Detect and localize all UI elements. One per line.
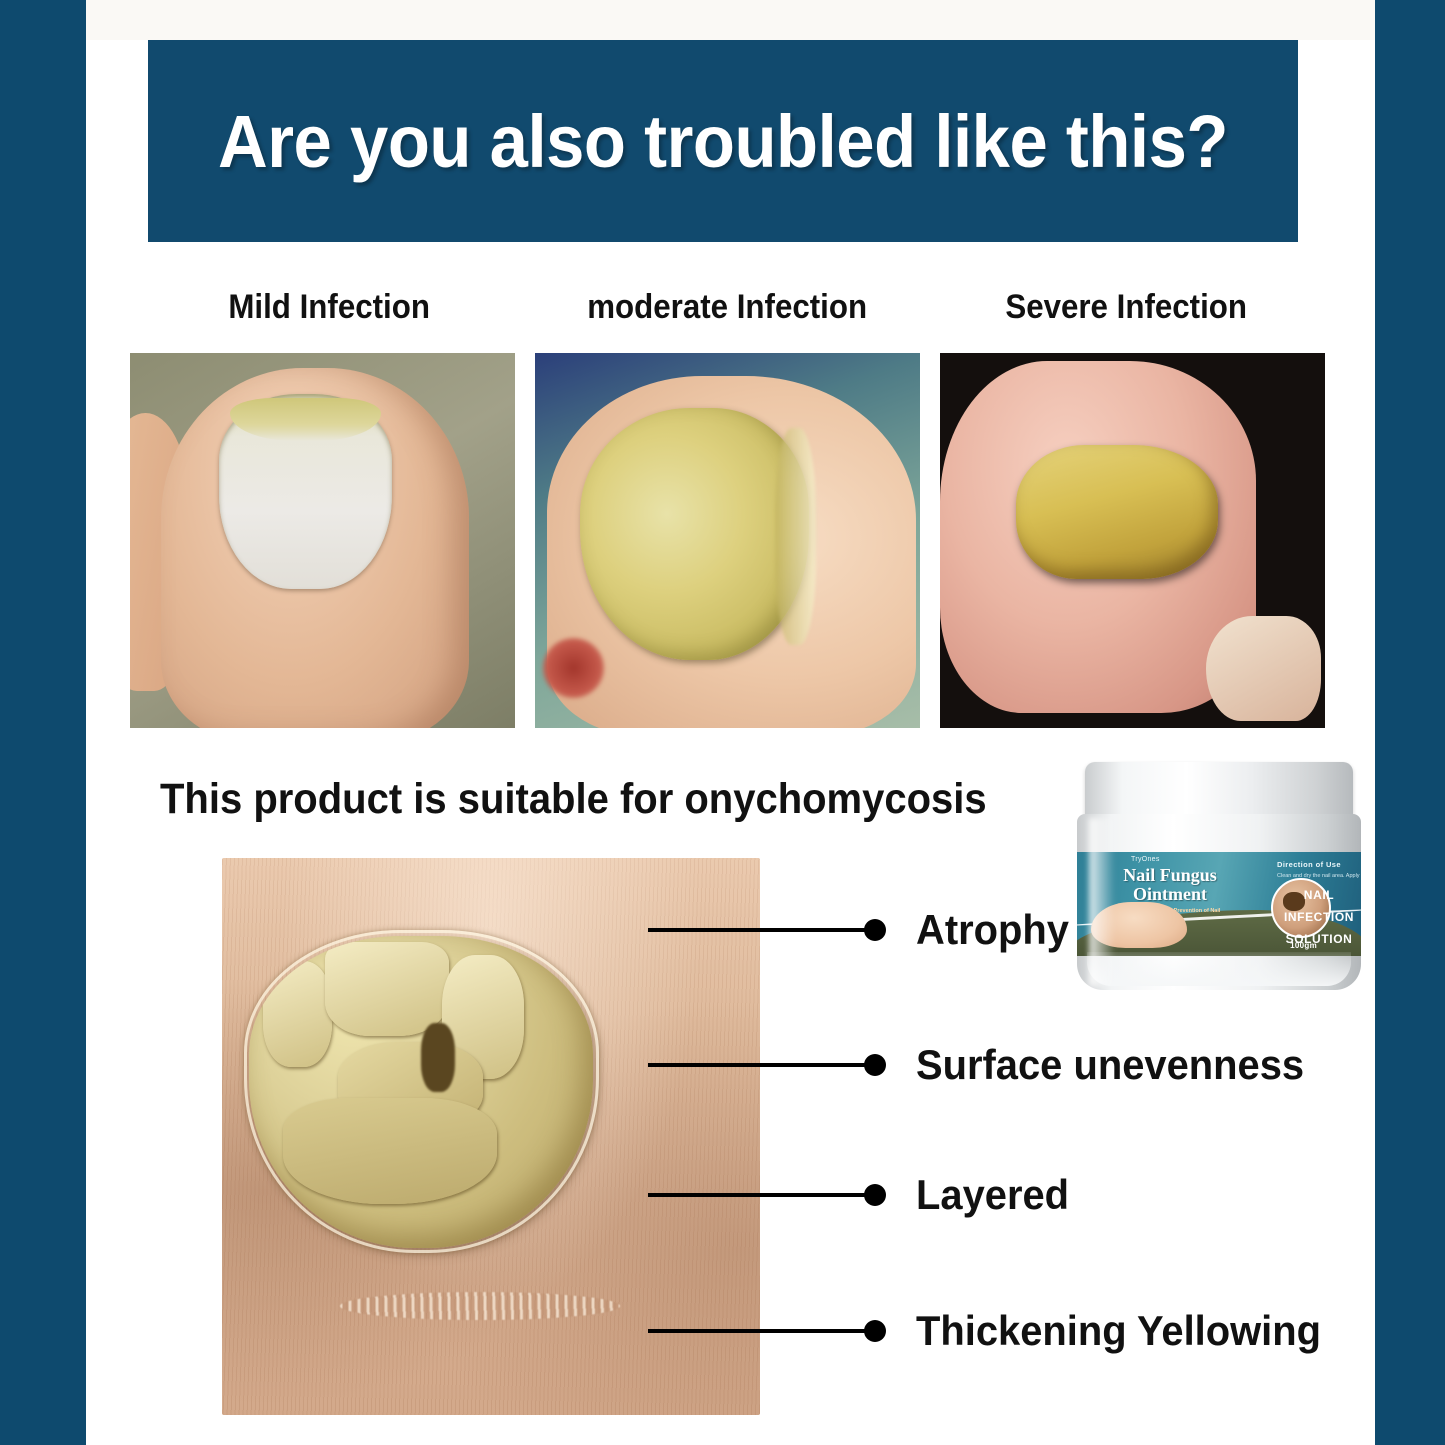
severity-label-moderate: moderate Infection (544, 288, 910, 327)
nail-rim-highlight (244, 930, 599, 1253)
section-subtitle: This product is suitable for onychomycos… (160, 775, 987, 824)
left-blue-border (0, 0, 86, 1445)
callout-label: Surface unevenness (916, 1041, 1304, 1089)
neighbor-nail-shape (1206, 616, 1322, 721)
callout-surface-unevenness: Surface unevenness (648, 1050, 1325, 1080)
claim-line-1: NAIL (1277, 888, 1361, 902)
nail-plate-shape (580, 408, 809, 660)
nail-plate-shape (219, 394, 391, 589)
product-title-line2: Ointment (1133, 884, 1207, 904)
callout-atrophy: Atrophy (648, 915, 1077, 945)
mild-infection-photo (130, 353, 515, 728)
directions-heading: Direction of Use (1277, 860, 1361, 869)
product-jar-image: TryOnes Nail Fungus Ointment Repair & Ef… (1073, 762, 1373, 990)
severity-label-mild: Mild Infection (146, 288, 512, 327)
severe-infection-photo (940, 353, 1325, 728)
top-margin-strip (86, 0, 1375, 40)
callout-label: Atrophy (916, 906, 1069, 954)
right-blue-border (1375, 0, 1445, 1445)
severity-label-severe: Severe Infection (943, 288, 1309, 327)
jar-body: TryOnes Nail Fungus Ointment Repair & Ef… (1077, 814, 1361, 990)
page-title: Are you also troubled like this? (218, 99, 1228, 184)
claim-line-3: SOLUTION (1277, 932, 1361, 946)
jar-label: TryOnes Nail Fungus Ointment Repair & Ef… (1077, 852, 1361, 956)
leader-dot (864, 1054, 886, 1076)
leader-line (648, 1329, 866, 1333)
callout-layered: Layered (648, 1180, 1077, 1210)
leader-dot (864, 1184, 886, 1206)
leader-line (648, 1063, 866, 1067)
inflammation-spot (543, 638, 605, 698)
jar-directions-panel: Direction of Use Clean and dry the nail … (1269, 852, 1361, 956)
moderate-infection-photo (535, 353, 920, 728)
product-title: Nail Fungus Ointment (1105, 866, 1235, 904)
severity-photo-row (130, 353, 1325, 728)
product-brand: TryOnes (1131, 856, 1160, 863)
severity-label-row: Mild Infection moderate Infection Severe… (130, 288, 1325, 327)
claim-line-2: INFECTION (1277, 910, 1361, 924)
leader-line (648, 1193, 866, 1197)
leader-dot (864, 919, 886, 941)
nail-plate-shape (1016, 445, 1218, 579)
leader-dot (864, 1320, 886, 1342)
jar-gloss-highlight (1089, 818, 1115, 986)
header-banner: Are you also troubled like this? (148, 40, 1298, 242)
jar-base-highlight (1087, 952, 1351, 986)
callout-thickening-yellowing: Thickening Yellowing (648, 1316, 1342, 1346)
product-title-line1: Nail Fungus (1123, 865, 1217, 885)
leader-line (648, 928, 866, 932)
infographic-page: Are you also troubled like this? Mild In… (0, 0, 1445, 1445)
toe-shape (161, 368, 469, 728)
callout-label: Thickening Yellowing (916, 1307, 1321, 1355)
directions-body: Clean and dry the nail area. Apply to th… (1277, 873, 1361, 880)
callout-label: Layered (916, 1171, 1069, 1219)
